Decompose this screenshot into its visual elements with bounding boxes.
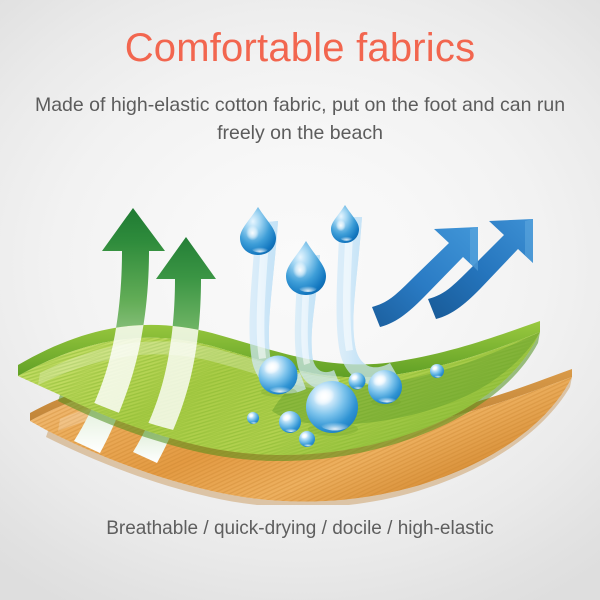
surface-droplet-4 — [279, 411, 301, 433]
feature-caption: Breathable / quick-drying / docile / hig… — [0, 518, 600, 540]
product-feature-poster: Comfortable fabrics Made of high-elastic… — [0, 0, 600, 600]
surface-droplet-6 — [430, 364, 444, 378]
page-title: Comfortable fabrics — [0, 26, 600, 71]
blue-airflow-arrows — [372, 219, 533, 327]
page-subtitle: Made of high-elastic cotton fabric, put … — [30, 92, 570, 147]
vapor-droplet-2 — [331, 205, 359, 243]
surface-droplet-large — [306, 381, 358, 436]
surface-droplet-3 — [349, 373, 366, 390]
surface-droplet-2 — [368, 370, 402, 406]
vapor-droplet-1 — [240, 207, 276, 255]
vapor-droplet-3 — [286, 241, 326, 295]
breathable-fabric-illustration — [0, 175, 600, 505]
surface-droplet-7 — [247, 412, 259, 424]
surface-droplet-1 — [259, 356, 298, 398]
surface-droplet-5 — [299, 431, 315, 447]
